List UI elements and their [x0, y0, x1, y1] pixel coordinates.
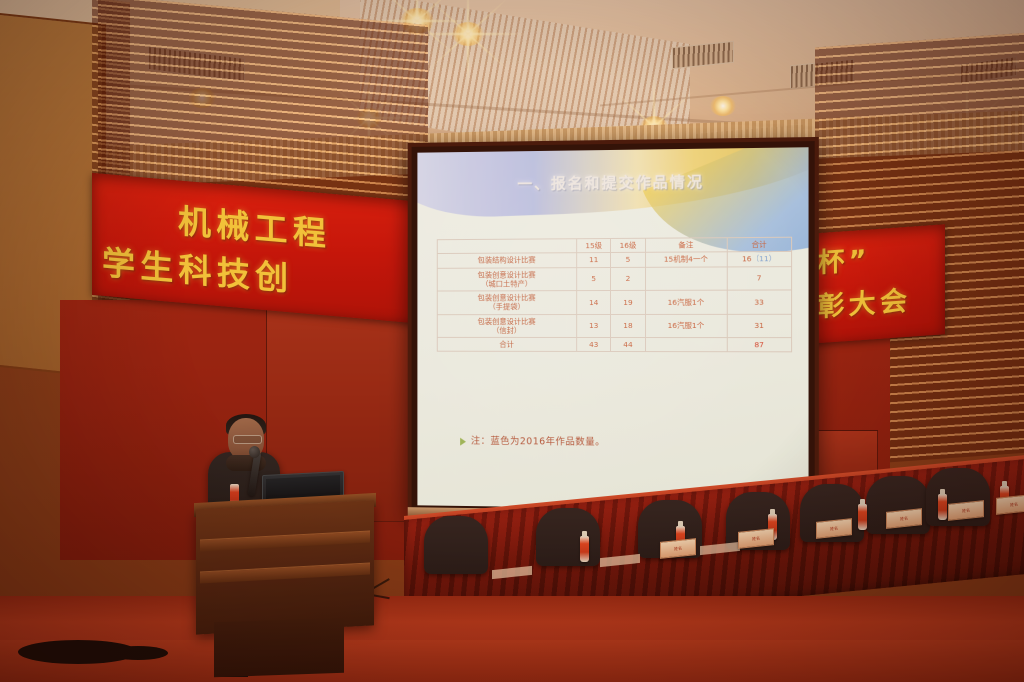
floor-cable-bundle	[108, 646, 168, 660]
name-card-text: 姓名	[817, 519, 851, 538]
table-cell-remark	[645, 338, 727, 352]
row-label: 包装创意设计比赛	[478, 317, 536, 326]
ceiling-spotlight-icon	[452, 22, 484, 46]
auditorium-scene: 机械工程 学生科技创 工杯” 表彰大会 一、报名和提交作品情况 15级 16级 …	[0, 0, 1024, 682]
table-cell-remark	[645, 266, 727, 290]
table-cell-15: 13	[577, 314, 611, 338]
name-card-text: 姓名	[739, 529, 773, 548]
row-label: 包装结构设计比赛	[478, 256, 536, 265]
table-row-totals: 合计 43 44 87	[437, 337, 791, 352]
table-cell-remark: 16汽服1个	[645, 290, 727, 314]
bullet-triangle-icon	[460, 437, 466, 445]
table-cell-label: 包装结构设计比赛	[437, 253, 576, 268]
microphone-head-icon	[249, 446, 260, 458]
table-cell-label: 包装创意设计比赛 （手提袋）	[437, 291, 576, 315]
water-bottle	[580, 536, 589, 562]
row-label-sub: （城口土特产）	[481, 279, 532, 288]
name-card-text: 姓名	[661, 539, 695, 558]
table-cell-15: 5	[577, 267, 611, 291]
table-cell-total: 87	[727, 338, 792, 352]
chair	[424, 516, 488, 574]
table-row: 包装创意设计比赛 （城口土特产） 5 2 7	[437, 266, 791, 291]
row-label: 包装创意设计比赛	[478, 270, 536, 279]
water-bottle	[938, 494, 947, 520]
slide-title: 一、报名和提交作品情况	[417, 170, 808, 195]
table-cell-15: 43	[577, 337, 611, 351]
table-header-cell: 合计	[727, 237, 792, 252]
name-card-text: 姓名	[949, 501, 983, 520]
podium-trim	[200, 531, 370, 552]
name-card: 姓名	[996, 494, 1024, 515]
table-header-cell: 16级	[611, 238, 645, 252]
table-cell-total: 31	[727, 314, 792, 338]
table-cell-16: 18	[611, 314, 645, 338]
slide-note-text: 注：蓝色为2016年作品数量。	[471, 436, 605, 448]
table-row: 包装创意设计比赛 （信封） 13 18 16汽服1个 31	[437, 314, 791, 338]
table-cell-remark: 16汽服1个	[645, 314, 727, 338]
table-cell-16: 5	[611, 253, 645, 267]
table-cell-total: 16（11）	[727, 252, 792, 267]
table-cell-label: 合计	[437, 337, 576, 351]
podium-base	[214, 618, 344, 678]
slide-content: 15级 16级 备注 合计 包装结构设计比赛 11 5	[437, 237, 792, 353]
table-cell-15: 11	[577, 253, 611, 267]
table-row: 包装创意设计比赛 （手提袋） 14 19 16汽服1个 33	[437, 290, 791, 314]
total-extra-blue: （11）	[752, 254, 777, 263]
table-header-cell: 15级	[577, 238, 611, 252]
row-label-sub: （信封）	[492, 326, 521, 335]
podium-trim	[200, 563, 370, 584]
row-label-sub: （手提袋）	[488, 302, 524, 311]
projection-screen: 一、报名和提交作品情况 15级 16级 备注 合计	[417, 147, 808, 511]
glasses-icon	[233, 435, 262, 444]
water-bottle	[858, 504, 867, 530]
row-label: 包装创意设计比赛	[478, 293, 536, 302]
table-cell-total: 33	[727, 290, 792, 314]
ceiling-spotlight-icon	[710, 96, 736, 116]
table-cell-15: 14	[577, 290, 611, 314]
table-cell-remark: 15机制4一个	[645, 252, 727, 267]
table-cell-label: 包装创意设计比赛 （信封）	[437, 314, 576, 337]
table-header-cell: 备注	[645, 238, 727, 253]
name-card-text: 姓名	[997, 495, 1024, 514]
projection-screen-frame: 一、报名和提交作品情况 15级 16级 备注 合计	[408, 137, 819, 521]
podium	[196, 500, 374, 634]
table-cell-16: 19	[611, 290, 645, 314]
table-cell-16: 44	[611, 338, 645, 352]
slide-data-table: 15级 16级 备注 合计 包装结构设计比赛 11 5	[437, 237, 792, 353]
table-cell-total: 7	[727, 266, 792, 290]
chair	[536, 508, 600, 566]
slide-note: 注：蓝色为2016年作品数量。	[460, 433, 605, 448]
table-cell-16: 2	[611, 267, 645, 291]
table-header-cell	[437, 239, 576, 254]
table-cell-label: 包装创意设计比赛 （城口土特产）	[437, 267, 576, 291]
total-value: 16	[742, 254, 752, 263]
name-card-text: 姓名	[887, 509, 921, 528]
